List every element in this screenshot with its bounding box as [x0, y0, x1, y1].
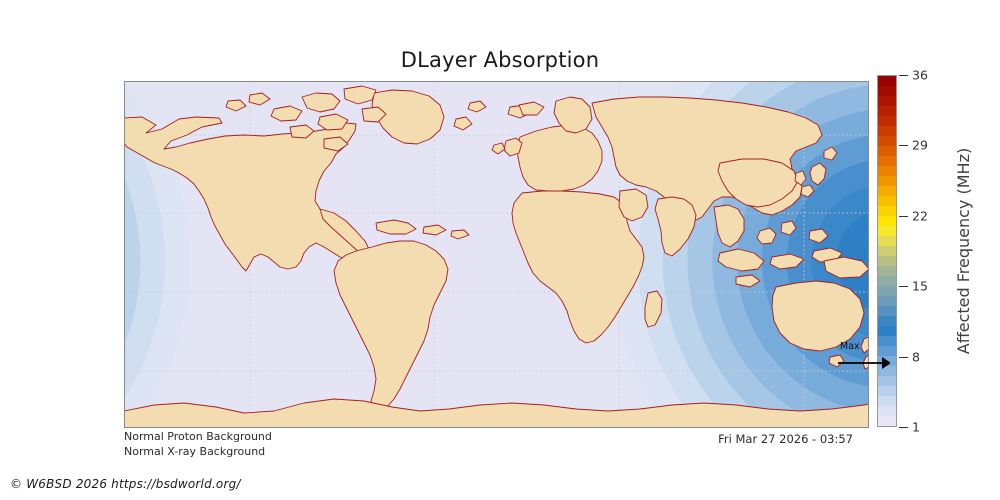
colorbar-tick-label-1: 1: [912, 420, 920, 435]
colorbar-axis-label: Affected Frequency (MHz): [954, 75, 976, 427]
xray-background-status: Normal X-ray Background: [124, 445, 272, 460]
coastline-layer: [124, 81, 869, 428]
colorbar-tick-1: [899, 427, 908, 428]
colorbar-tick-label-22: 22: [912, 208, 928, 223]
colorbar[interactable]: [877, 75, 897, 427]
colorbar-tick-29: [899, 145, 908, 146]
timestamp: Fri Mar 27 2026 - 03:57: [718, 432, 853, 446]
colorbar-tick-8: [899, 357, 908, 358]
colorbar-tick-label-15: 15: [912, 279, 928, 294]
colorbar-tick-22: [899, 216, 908, 217]
colorbar-tick-15: [899, 286, 908, 287]
colorbar-tick-36: [899, 75, 908, 76]
colorbar-gradient: [877, 75, 897, 427]
footer-credit: © W6BSD 2026 https://bsdworld.org/: [10, 477, 241, 491]
colorbar-tick-label-29: 29: [912, 138, 928, 153]
max-marker-annotation: Max: [838, 352, 890, 374]
colorbar-tick-label-8: 8: [912, 349, 920, 364]
proton-background-status: Normal Proton Background: [124, 430, 272, 445]
max-arrow-icon: [838, 352, 890, 374]
colorbar-tick-label-36: 36: [912, 68, 928, 83]
page-title: DLayer Absorption: [0, 48, 1000, 72]
status-block: Normal Proton Background Normal X-ray Ba…: [124, 430, 272, 459]
max-marker-label: Max: [840, 341, 860, 352]
world-map-plot[interactable]: [124, 81, 869, 428]
